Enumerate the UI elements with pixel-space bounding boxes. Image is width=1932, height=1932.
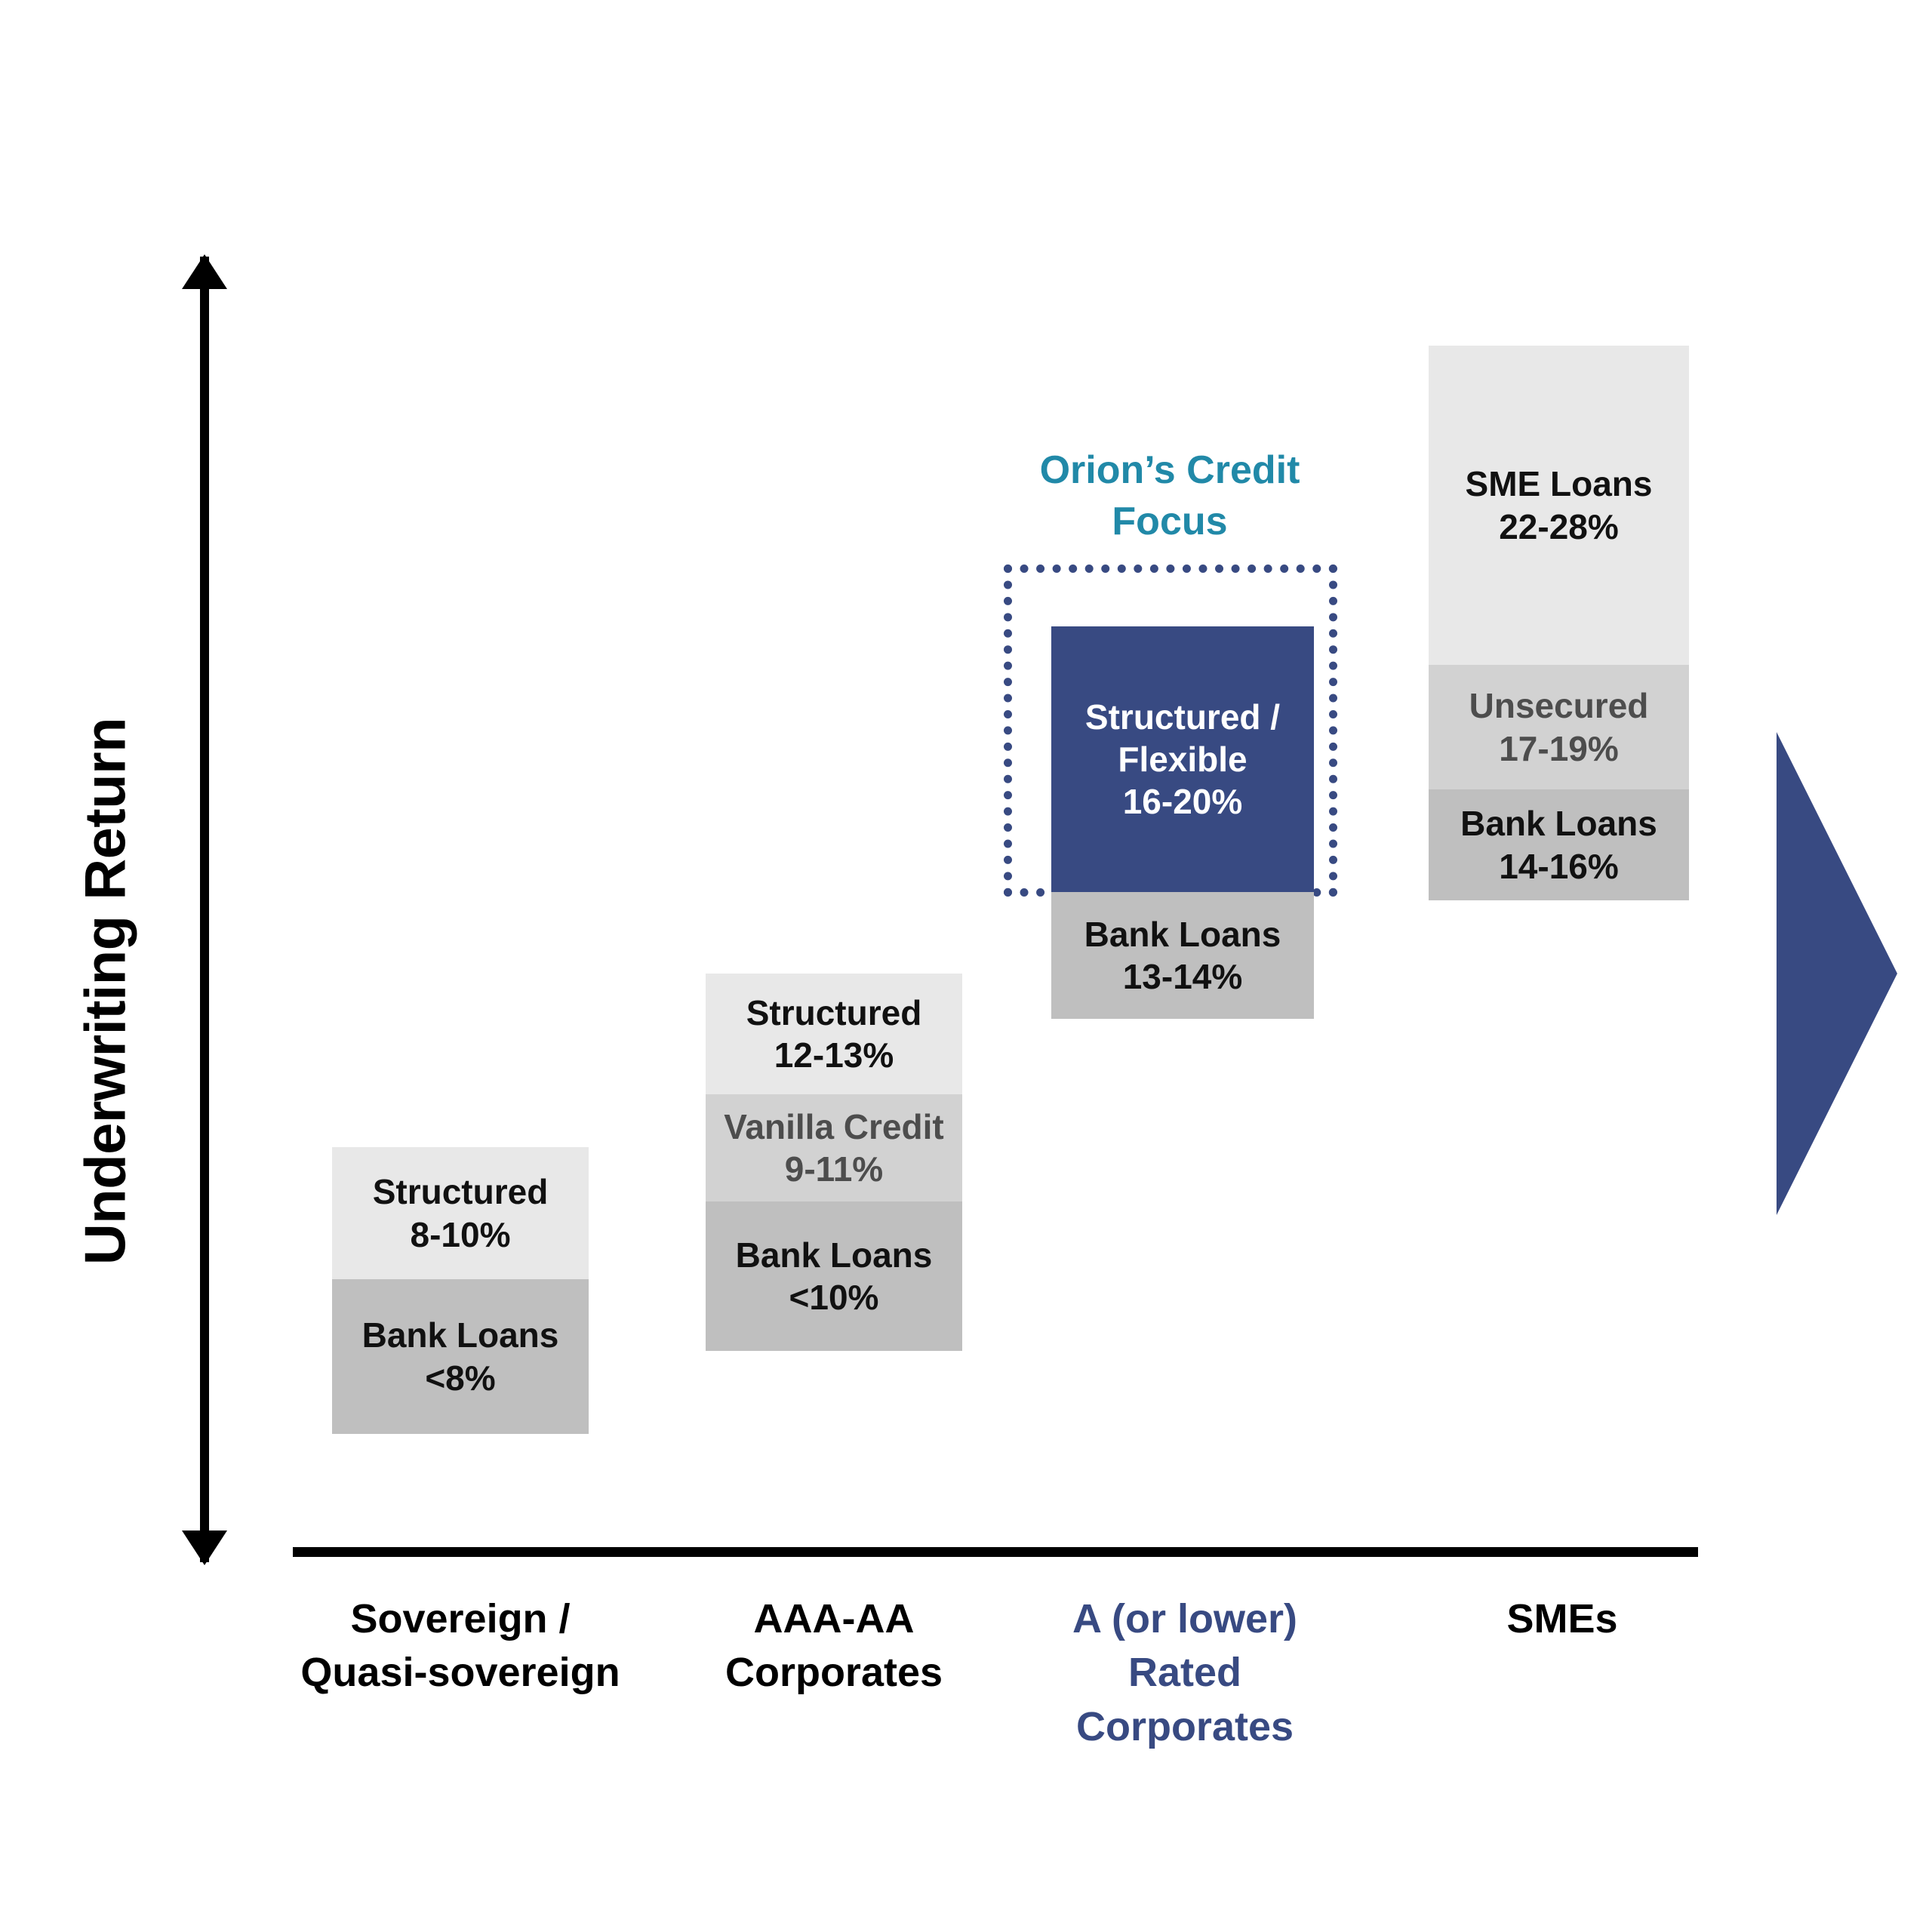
segment-value: 16-20% [1123,780,1243,823]
segment-label: Bank Loans [362,1314,559,1356]
x-axis-label-line: Quasi-sovereign [241,1646,679,1700]
bar-column-smes: SME Loans 22-28% Unsecured 17-19% Bank L… [1429,346,1689,900]
segment-value: 17-19% [1499,728,1619,770]
bar-column-a-rated: Structured / Flexible 16-20% Bank Loans … [1051,626,1314,1019]
bar-column-sovereign: Structured 8-10% Bank Loans <8% [332,1147,589,1434]
segment-structured[interactable]: Structured 12-13% [706,974,962,1094]
x-axis-label-line: SMEs [1351,1592,1774,1646]
segment-value: 22-28% [1499,506,1619,548]
segment-label: Bank Loans [1084,913,1281,955]
chart-canvas: Underwriting Return Structured 8-10% Ban… [0,0,1932,1932]
segment-label: Vanilla Credit [724,1106,943,1148]
segment-label: Structured / Flexible [1051,696,1314,780]
x-axis-line [293,1547,1698,1557]
segment-vanilla-credit[interactable]: Vanilla Credit 9-11% [706,1094,962,1201]
segment-value: 9-11% [785,1148,883,1190]
y-axis-title-label: Underwriting Return [73,463,139,1520]
segment-bank-loans[interactable]: Bank Loans 14-16% [1429,789,1689,900]
x-axis-label-smes: SMEs [1351,1592,1774,1646]
segment-bank-loans[interactable]: Bank Loans <10% [706,1201,962,1351]
x-axis-label-a-rated: A (or lower) Rated Corporates [974,1592,1396,1754]
segment-label: Bank Loans [736,1234,933,1276]
segment-value: 8-10% [411,1214,511,1256]
segment-label: Unsecured [1469,685,1649,727]
increasing-return-arrow-icon [1777,732,1897,1215]
segment-value: 13-14% [1123,955,1243,998]
segment-bank-loans[interactable]: Bank Loans 13-14% [1051,892,1314,1019]
x-axis-label-sovereign: Sovereign / Quasi-sovereign [241,1592,679,1700]
segment-structured[interactable]: Structured 8-10% [332,1147,589,1279]
orion-focus-caption: Orion’s Credit Focus [981,445,1358,547]
segment-label: Structured [373,1171,549,1213]
segment-value: <8% [425,1357,495,1399]
x-axis-label-line: Rated [974,1646,1396,1700]
segment-label: Structured [746,992,922,1034]
segment-label: SME Loans [1466,463,1653,505]
segment-value: 12-13% [774,1034,894,1076]
arrow-down-icon [182,1531,227,1565]
x-axis-label-line: A (or lower) [974,1592,1396,1646]
bar-column-aaa-aa: Structured 12-13% Vanilla Credit 9-11% B… [706,974,962,1351]
segment-sme-loans[interactable]: SME Loans 22-28% [1429,346,1689,665]
segment-value: 14-16% [1499,845,1619,888]
x-axis-label-line: Sovereign / [241,1592,679,1646]
segment-label: Bank Loans [1460,802,1657,844]
segment-value: <10% [789,1276,879,1318]
segment-unsecured[interactable]: Unsecured 17-19% [1429,665,1689,789]
x-axis-label-line: Corporates [974,1700,1396,1754]
arrow-up-icon [182,254,227,289]
y-axis-line [200,257,209,1562]
segment-bank-loans[interactable]: Bank Loans <8% [332,1279,589,1434]
segment-structured-flexible[interactable]: Structured / Flexible 16-20% [1051,626,1314,892]
